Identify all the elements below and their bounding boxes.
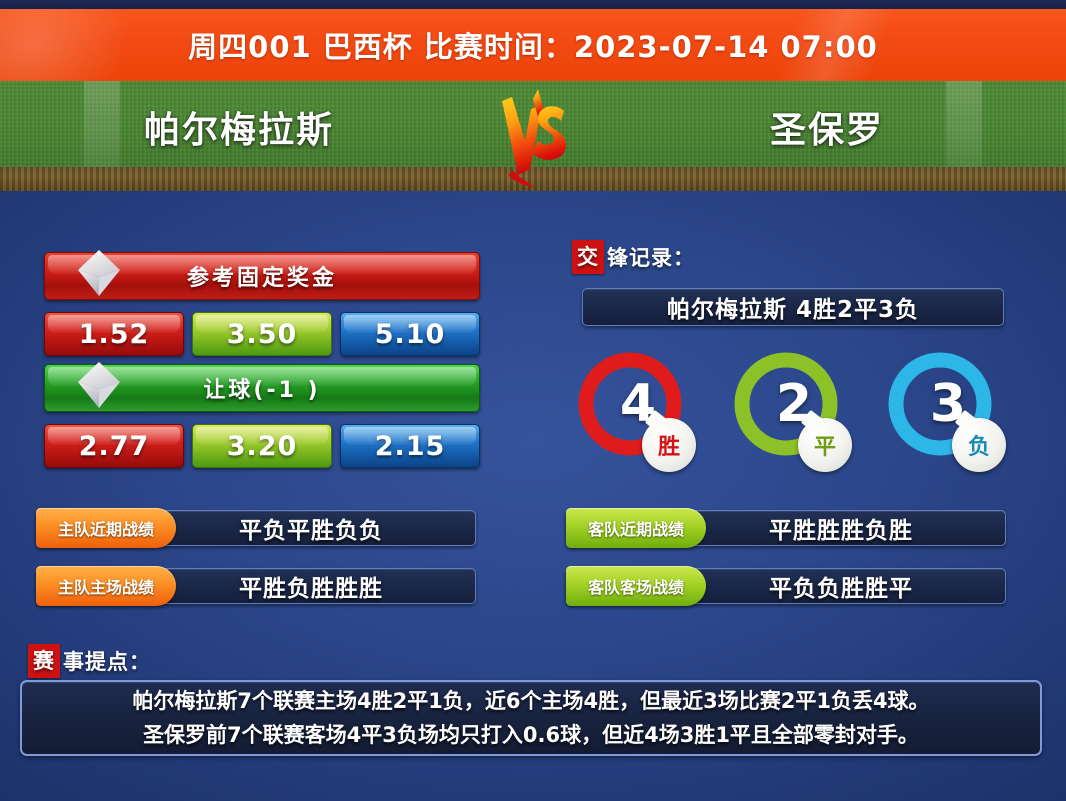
note-box: 帕尔梅拉斯7个联赛主场4胜2平1负，近6个主场4胜，但最近3场比赛2平1负丢4球… xyxy=(20,680,1042,756)
odd-value: 2.15 xyxy=(375,431,446,462)
vs-logo-icon xyxy=(478,83,588,191)
home-venue-label: 主队主场战绩 xyxy=(36,566,176,606)
home-recent-label: 主队近期战绩 xyxy=(36,508,176,548)
h2h-label-rest: 锋记录： xyxy=(607,242,695,272)
teams-band: 帕尔梅拉斯 圣保罗 xyxy=(0,81,1066,191)
away-recent-label: 客队近期战绩 xyxy=(566,508,706,548)
note-line-1: 帕尔梅拉斯7个联赛主场4胜2平1负，近6个主场4胜，但最近3场比赛2平1负丢4球… xyxy=(132,684,929,718)
odd-away-win[interactable]: 5.10 xyxy=(340,312,480,356)
header-title: 周四001 巴西杯 比赛时间：2023-07-14 07:00 xyxy=(0,9,1066,81)
handicap-odd-away[interactable]: 2.15 xyxy=(340,424,480,468)
h2h-label-box: 交 xyxy=(572,240,604,274)
odd-value: 5.10 xyxy=(375,319,446,350)
handicap-odd-home[interactable]: 2.77 xyxy=(44,424,184,468)
diamond-icon xyxy=(71,245,127,301)
h2h-loss-badge: 负 xyxy=(952,418,1006,472)
h2h-win-circle: 4 胜 xyxy=(574,348,686,460)
odd-value: 3.50 xyxy=(227,319,298,350)
header-bar: 周四001 巴西杯 比赛时间：2023-07-14 07:00 xyxy=(0,9,1066,81)
h2h-section-label: 交锋记录： xyxy=(572,240,695,274)
away-team-name: 圣保罗 xyxy=(588,81,1066,173)
home-team-name: 帕尔梅拉斯 xyxy=(0,81,478,173)
h2h-draw-badge: 平 xyxy=(798,418,852,472)
handicap-odd-draw[interactable]: 3.20 xyxy=(192,424,332,468)
diamond-icon xyxy=(71,357,127,413)
h2h-loss-circle: 3 负 xyxy=(884,348,996,460)
odd-value: 2.77 xyxy=(79,431,150,462)
note-line-2: 圣保罗前7个联赛客场4平3负场均只打入0.6球，但近4场3胜1平且全部零封对手。 xyxy=(143,718,919,752)
h2h-draw-circle: 2 平 xyxy=(730,348,842,460)
handicap-title-bar: 让球(-1 ) xyxy=(44,364,480,412)
odd-home-win[interactable]: 1.52 xyxy=(44,312,184,356)
match-preview-page: 周四001 巴西杯 比赛时间：2023-07-14 07:00 帕尔梅拉斯 xyxy=(0,0,1066,801)
top-strip xyxy=(0,0,1066,9)
note-label-box: 赛 xyxy=(28,644,60,678)
handicap-title-text: 让球(-1 ) xyxy=(203,372,320,404)
odd-value: 1.52 xyxy=(79,319,150,350)
h2h-win-badge: 胜 xyxy=(642,418,696,472)
away-venue-label: 客队客场战绩 xyxy=(566,566,706,606)
h2h-summary-bar: 帕尔梅拉斯 4胜2平3负 xyxy=(582,288,1004,326)
odd-draw[interactable]: 3.50 xyxy=(192,312,332,356)
note-label-rest: 事提点： xyxy=(63,646,151,676)
fixed-odds-title-bar: 参考固定奖金 xyxy=(44,252,480,300)
odd-value: 3.20 xyxy=(227,431,298,462)
note-section-label: 赛事提点： xyxy=(28,644,151,678)
fixed-odds-title-text: 参考固定奖金 xyxy=(187,260,337,292)
